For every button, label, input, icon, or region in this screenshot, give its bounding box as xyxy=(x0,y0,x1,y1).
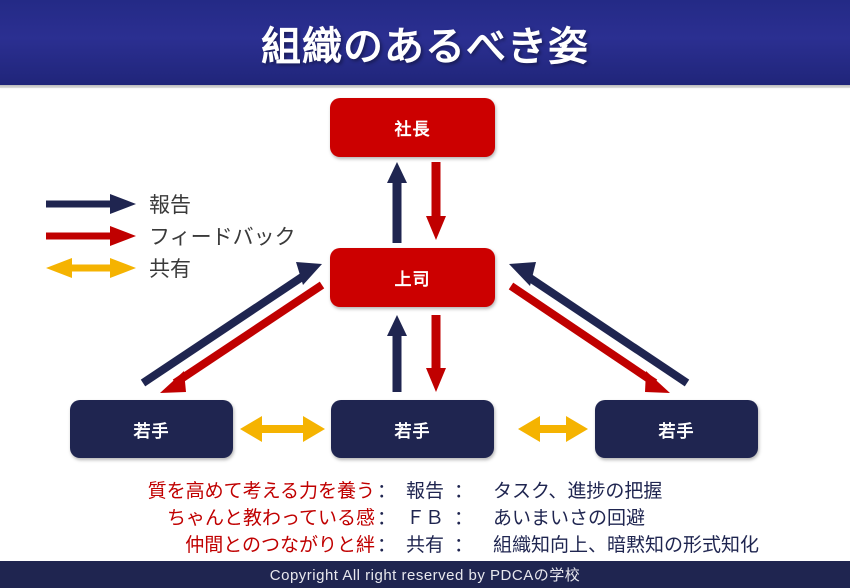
legend-item-feedback: フィードバック xyxy=(44,220,304,252)
summary-separator: ： xyxy=(375,476,398,503)
summary-right-houkoku: タスク、進捗の把握 xyxy=(493,476,662,503)
connector-joshi-to-wakate2-feedback xyxy=(426,315,446,392)
summary-row-houkoku: 質を高めて考える力を養う ： 報告 ： タスク、進捗の把握 xyxy=(0,476,850,503)
summary-left-feedback: ちゃんと教わっている感 xyxy=(0,503,375,530)
summary-right-feedback: あいまいさの回避 xyxy=(493,503,645,530)
summary-left-houkoku: 質を高めて考える力を養う xyxy=(0,476,375,503)
node-wakate-center[interactable]: 若手 xyxy=(331,400,494,458)
connector-joshi-to-shacho-houkoku xyxy=(387,162,407,243)
summary-left-kyoyu: 仲間とのつながりと絆 xyxy=(0,530,375,557)
summary-right-kyoyu: 組織知向上、暗黙知の形式知化 xyxy=(493,530,759,557)
summary-block: 質を高めて考える力を養う ： 報告 ： タスク、進捗の把握 ちゃんと教わっている… xyxy=(0,476,850,557)
summary-separator: ： xyxy=(452,530,475,557)
legend: 報告 フィードバック 共有 xyxy=(44,188,304,284)
legend-label-kyoyu: 共有 xyxy=(149,253,191,283)
summary-separator: ： xyxy=(452,503,475,530)
connector-wakate2-wakate3-kyoyu xyxy=(518,416,588,442)
node-wakate-left[interactable]: 若手 xyxy=(70,400,233,458)
connector-shacho-to-joshi-feedback xyxy=(426,162,446,240)
summary-row-kyoyu: 仲間とのつながりと絆 ： 共有 ： 組織知向上、暗黙知の形式知化 xyxy=(0,530,850,557)
summary-separator: ： xyxy=(375,503,398,530)
summary-separator: ： xyxy=(375,530,398,557)
connector-joshi-to-wakate1-feedback xyxy=(160,285,322,393)
arrow-right-red-icon xyxy=(44,224,139,248)
connector-wakate3-to-joshi-houkoku xyxy=(509,262,687,383)
legend-label-feedback: フィードバック xyxy=(149,221,296,251)
summary-mid-kyoyu: 共有 xyxy=(398,530,452,557)
legend-item-kyoyu: 共有 xyxy=(44,252,304,284)
legend-label-houkoku: 報告 xyxy=(149,189,191,219)
arrow-both-yellow-icon xyxy=(44,256,139,280)
arrow-right-navy-icon xyxy=(44,192,139,216)
page-title: 組織のあるべき姿 xyxy=(0,0,850,85)
summary-row-feedback: ちゃんと教わっている感 ： ＦＢ ： あいまいさの回避 xyxy=(0,503,850,530)
summary-separator: ： xyxy=(452,476,475,503)
footer-bar: Copyright All right reserved by PDCAの学校 xyxy=(0,561,850,588)
slide-canvas: 組織のあるべき姿 報告 フィードバック xyxy=(0,0,850,588)
summary-mid-feedback: ＦＢ xyxy=(398,503,452,530)
node-wakate-right[interactable]: 若手 xyxy=(595,400,758,458)
node-joshi[interactable]: 上司 xyxy=(330,248,495,307)
title-banner-underline xyxy=(0,85,850,88)
connector-wakate1-wakate2-kyoyu xyxy=(240,416,325,442)
connector-joshi-to-wakate3-feedback xyxy=(511,286,670,393)
copyright-text: Copyright All right reserved by PDCAの学校 xyxy=(270,564,580,585)
title-banner: 組織のあるべき姿 xyxy=(0,0,850,85)
connector-wakate2-to-joshi-houkoku xyxy=(387,315,407,392)
node-shacho[interactable]: 社長 xyxy=(330,98,495,157)
summary-mid-houkoku: 報告 xyxy=(398,476,452,503)
legend-item-houkoku: 報告 xyxy=(44,188,304,220)
